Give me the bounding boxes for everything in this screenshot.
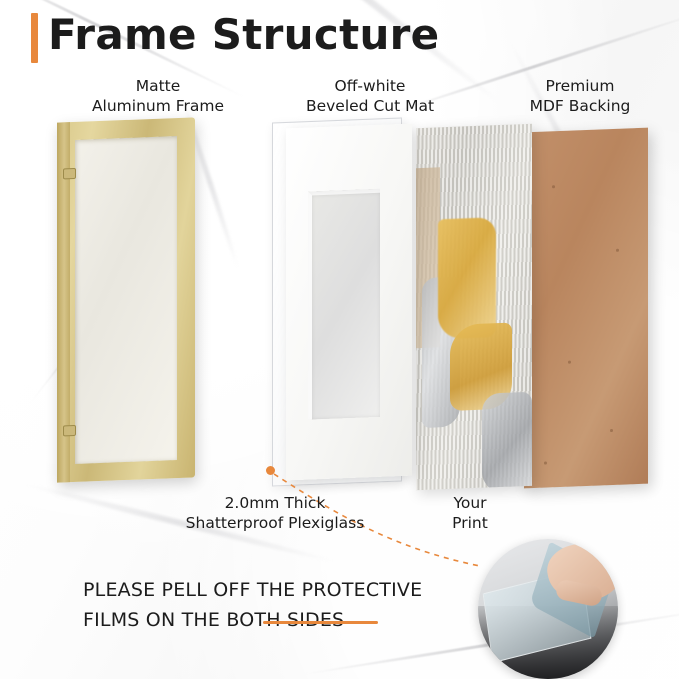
caption-mat-line1: Off-white <box>270 76 470 96</box>
label-print-line2: Print <box>410 513 530 533</box>
film-peel-photo <box>478 539 618 679</box>
label-plexiglass-line1: 2.0mm Thick <box>150 493 400 513</box>
mat-part <box>286 124 412 481</box>
print-gold-stroke <box>438 217 496 339</box>
caption-backing: Premium MDF Backing <box>500 76 660 116</box>
frame-inner-opening <box>75 136 177 464</box>
label-plexiglass-line2: Shatterproof Plexiglass <box>150 513 400 533</box>
notice-line-1: PLEASE PELL OFF THE PROTECTIVE <box>83 575 503 605</box>
caption-mat-line2: Beveled Cut Mat <box>270 96 470 116</box>
caption-backing-line2: MDF Backing <box>500 96 660 116</box>
caption-frame-line2: Aluminum Frame <box>48 96 268 116</box>
notice-underline <box>263 621 378 624</box>
notice-line-2: FILMS ON THE BOTH SIDES <box>83 605 503 635</box>
mdf-backing-part <box>524 128 648 489</box>
label-print: Your Print <box>410 493 530 533</box>
caption-frame: Matte Aluminum Frame <box>48 76 268 116</box>
title-accent-bar <box>31 13 38 63</box>
frame-hook-icon <box>63 425 76 436</box>
frame-hook-icon <box>63 168 76 179</box>
poster-canvas: Frame Structure Matte Aluminum Frame Off… <box>0 0 679 679</box>
page-title: Frame Structure <box>48 10 439 59</box>
mat-bevel-edge <box>308 189 380 420</box>
label-plexiglass: 2.0mm Thick Shatterproof Plexiglass <box>150 493 400 533</box>
caption-backing-line1: Premium <box>500 76 660 96</box>
caption-frame-line1: Matte <box>48 76 268 96</box>
aluminum-frame-part <box>57 117 195 482</box>
protective-film-notice: PLEASE PELL OFF THE PROTECTIVE FILMS ON … <box>83 575 503 635</box>
caption-mat: Off-white Beveled Cut Mat <box>270 76 470 116</box>
label-print-line1: Your <box>410 493 530 513</box>
art-print-part <box>416 124 532 490</box>
